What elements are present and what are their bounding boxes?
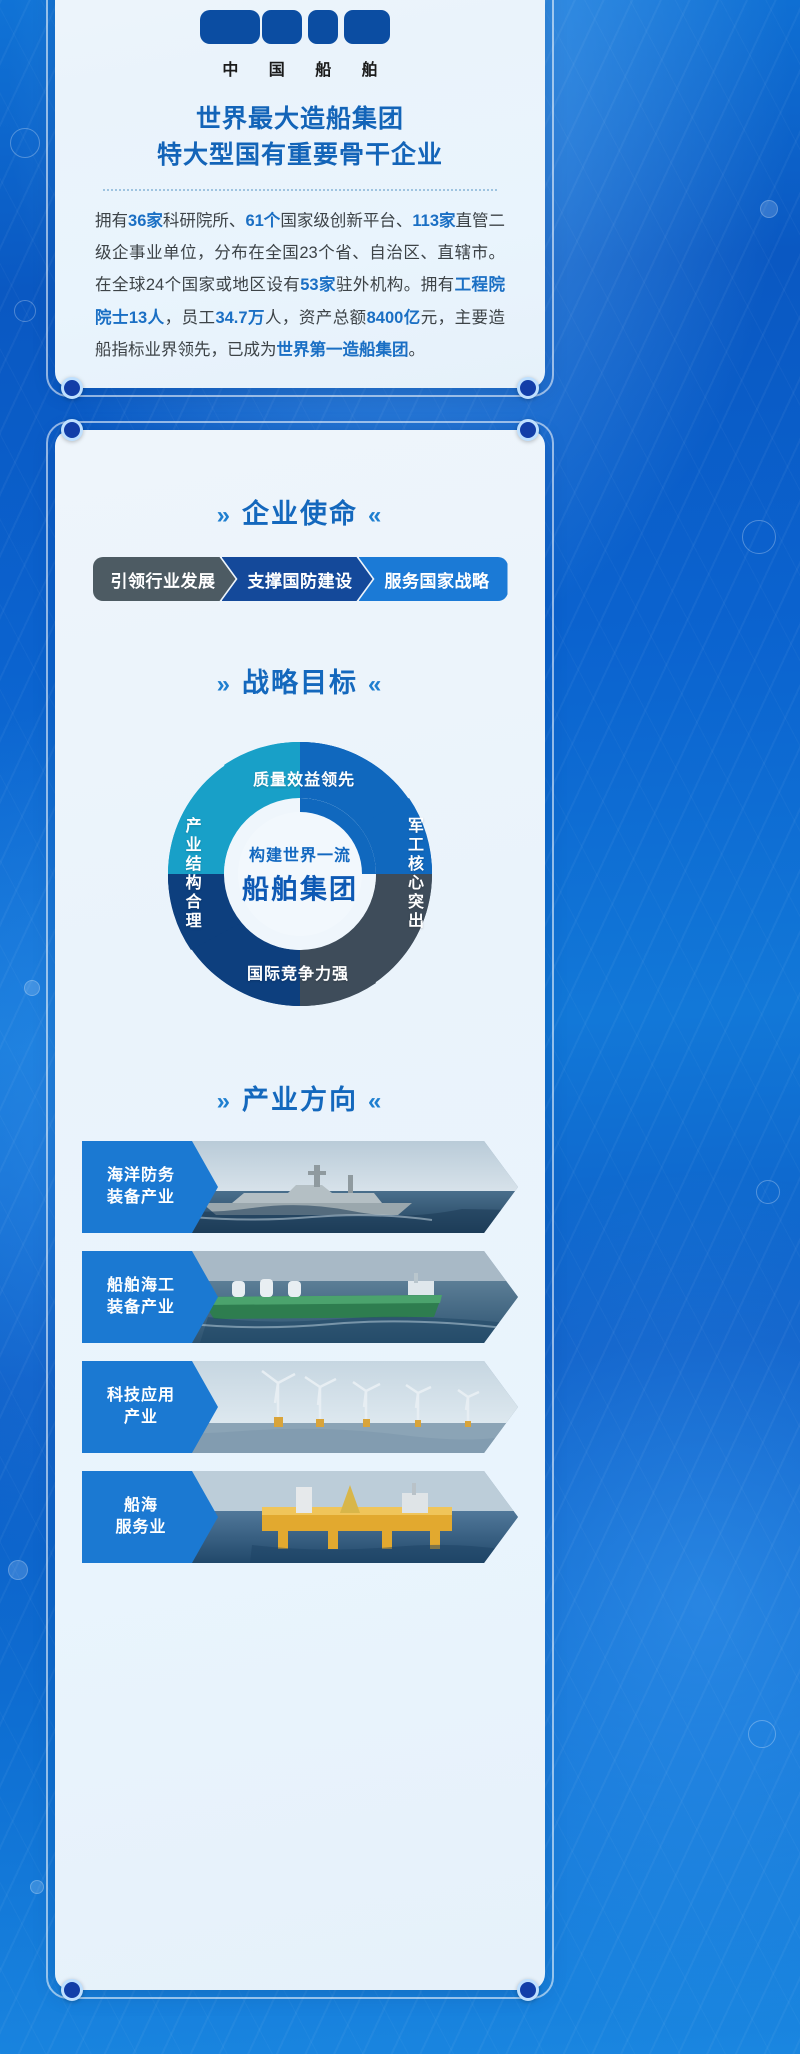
industry-heading-text: 产业方向 [242, 1085, 358, 1115]
bubble-decor [14, 300, 36, 322]
highlight-number: 34.7万 [215, 309, 265, 327]
paragraph-text: 拥有 [95, 212, 128, 230]
strategy-heading-text: 战略目标 [242, 668, 358, 698]
strategy-pinwheel: 质量效益领先 军工核心突出 国际竞争力强 产业结构合理 构建世界一流 船舶集团 [150, 724, 450, 1024]
header-card: 中 国 船 舶 世界最大造船集团 特大型国有重要骨干企业 拥有36家科研院所、6… [55, 0, 545, 388]
chevron-right-icon: « [358, 671, 393, 698]
highlight-number: 61个 [245, 212, 280, 230]
bubble-decor [10, 128, 40, 158]
paragraph-text: 科研院所、 [163, 212, 246, 230]
industry-row[interactable]: 船海 服务业 [82, 1471, 518, 1563]
strategy-segment-top: 质量效益领先 [253, 766, 355, 790]
highlight-number: 世界第一造船集团 [277, 341, 409, 359]
bubble-decor [760, 200, 778, 218]
page-title: 世界最大造船集团 特大型国有重要骨干企业 [95, 102, 505, 173]
highlight-number: 36家 [128, 212, 163, 230]
paragraph-text: ，员工 [165, 309, 216, 327]
chevron-left-icon: » [207, 1088, 242, 1115]
industry-row[interactable]: 船舶海工 装备产业 [82, 1251, 518, 1343]
industry-label-line2: 产业 [107, 1407, 175, 1429]
center-small-text: 构建世界一流 [225, 842, 375, 866]
chevron-right-icon: « [358, 502, 393, 529]
section-heading-strategy: »战略目标« [81, 661, 519, 700]
industry-row[interactable]: 海洋防务 装备产业 [82, 1141, 518, 1233]
logo-subtitle: 中 国 船 舶 [95, 56, 505, 80]
bubble-decor [748, 1720, 776, 1748]
paragraph-text: 。 [409, 341, 426, 359]
divider [103, 189, 497, 191]
mission-chevron-row: 引领行业发展 支撑国防建设 服务国家战略 [81, 557, 519, 601]
industry-label-line2: 装备产业 [107, 1297, 175, 1319]
strategy-segment-bottom: 国际竞争力强 [247, 960, 349, 984]
section-heading-mission: »企业使命« [81, 492, 519, 531]
paragraph-text: 驻外机构。拥有 [336, 276, 455, 294]
industry-label-line2: 服务业 [115, 1517, 166, 1539]
highlight-number: 53家 [300, 276, 336, 294]
chevron-left-icon: » [207, 502, 242, 529]
bubble-decor [30, 1880, 44, 1894]
industry-list: 海洋防务 装备产业 [81, 1141, 519, 1563]
paragraph-text: 人，资产总额 [265, 309, 367, 327]
industry-label-line1: 船海 [115, 1495, 166, 1517]
pin-decor [61, 419, 83, 441]
strategy-segment-right: 军工核心突出 [402, 817, 424, 931]
section-heading-industry: »产业方向« [81, 1078, 519, 1117]
industry-row[interactable]: 科技应用 产业 [82, 1361, 518, 1453]
csic-logo-icon [95, 4, 505, 50]
mission-item-1[interactable]: 支撑国防建设 [222, 557, 373, 601]
center-big-text: 船舶集团 [225, 868, 375, 907]
infographic-page: 中 国 船 舶 世界最大造船集团 特大型国有重要骨干企业 拥有36家科研院所、6… [0, 0, 800, 2054]
highlight-number: 113家 [412, 212, 455, 230]
intro-paragraph: 拥有36家科研院所、61个国家级创新平台、113家直管二级企事业单位，分布在全国… [95, 205, 505, 366]
pin-decor [517, 377, 539, 399]
title-line-1: 世界最大造船集团 [95, 102, 505, 138]
pin-decor [61, 377, 83, 399]
chevron-right-icon: « [358, 1088, 393, 1115]
industry-label-line1: 船舶海工 [107, 1275, 175, 1297]
industry-tag: 船舶海工 装备产业 [82, 1251, 218, 1343]
highlight-number: 8400亿 [367, 309, 421, 327]
pin-decor [517, 1979, 539, 2001]
pinwheel-center-label: 构建世界一流 船舶集团 [225, 842, 375, 907]
bubble-decor [756, 1180, 780, 1204]
bubble-decor [742, 520, 776, 554]
bubble-decor [8, 1560, 28, 1580]
mission-heading-text: 企业使命 [242, 499, 358, 529]
strategy-segment-left: 产业结构合理 [180, 817, 202, 931]
mission-item-2[interactable]: 服务国家战略 [359, 557, 508, 601]
brand-logo: 中 国 船 舶 [95, 0, 505, 80]
content-card: »企业使命« 引领行业发展 支撑国防建设 服务国家战略 »战略目标« [55, 430, 545, 1990]
paragraph-text: 国家级创新平台、 [280, 212, 412, 230]
industry-tag: 海洋防务 装备产业 [82, 1141, 218, 1233]
industry-label-line2: 装备产业 [107, 1187, 175, 1209]
chevron-left-icon: » [207, 671, 242, 698]
industry-label-line1: 科技应用 [107, 1385, 175, 1407]
title-line-2: 特大型国有重要骨干企业 [95, 138, 505, 174]
industry-tag: 船海 服务业 [82, 1471, 218, 1563]
pin-decor [61, 1979, 83, 2001]
mission-item-0[interactable]: 引领行业发展 [93, 557, 236, 601]
industry-tag: 科技应用 产业 [82, 1361, 218, 1453]
bubble-decor [24, 980, 40, 996]
industry-label-line1: 海洋防务 [107, 1165, 175, 1187]
pin-decor [517, 419, 539, 441]
